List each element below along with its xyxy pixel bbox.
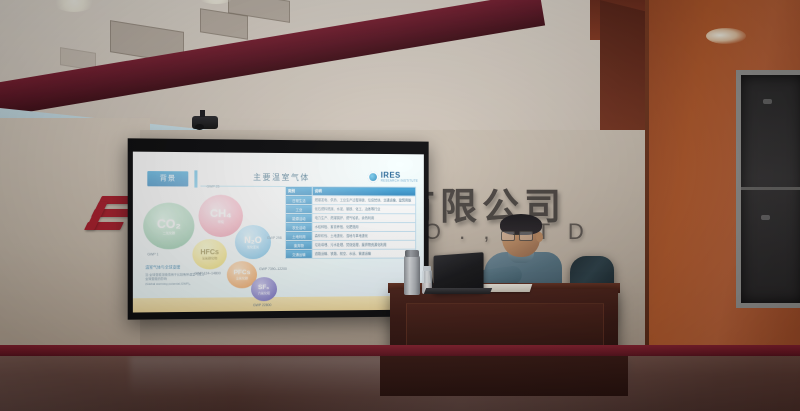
bubble-n2o-formula: N₂O	[244, 235, 262, 245]
table-cell-key: 土地利用	[285, 231, 312, 240]
eyeglasses-icon	[501, 231, 531, 239]
bubble-co2-sub: 二氧化碳	[157, 231, 181, 235]
ceiling-light	[52, 0, 96, 12]
bubble-ch4: CH₄ 甲烷	[198, 195, 242, 237]
table-cell-key: 交通运输	[285, 249, 312, 258]
table-cell-value: 水稻种植、畜禽养殖、化肥施用	[312, 223, 415, 232]
bubble-hfcs-formula: HFCs	[200, 249, 219, 256]
table-cell-value: 垃圾填埋、污水处理、焚烧处理、废弃物资源化利用	[312, 240, 415, 249]
bubble-hfcs-sub: 氢氟碳化物	[200, 256, 219, 260]
table-header-category: 类别	[285, 187, 312, 196]
table-cell-key: 能源活动	[285, 214, 312, 223]
ceiling-projector-icon	[192, 116, 218, 129]
slide-title: 主要温室气体	[253, 172, 310, 183]
slide-logo-subtitle: RESEARCH INSTITUTE	[381, 180, 418, 183]
table-cell-key: 日常生活	[285, 196, 312, 205]
bubble-ch4-sub: 甲烷	[210, 220, 231, 224]
window-glint	[761, 215, 770, 220]
slide-footnote-heading: 温室气体与全球变暖	[145, 265, 239, 271]
slide-tag-accent	[194, 170, 197, 187]
table-row: 能源活动 电力生产、燃煤锅炉、燃气轮机、余热利用	[285, 214, 415, 223]
table-header-description: 说明	[312, 187, 415, 196]
bubble-co2-gwp: GWP 1	[147, 252, 158, 256]
wall-corner-seam	[645, 0, 649, 352]
table-cell-value: 道路运输、铁路、航空、水运、管道运输	[312, 249, 415, 258]
laptop-keyboard-base	[424, 288, 492, 294]
bubble-n2o-sub: 氧化亚氮	[244, 245, 262, 249]
wall-spot-light	[706, 28, 746, 44]
table-row: 交通运输 道路运输、铁路、航空、水运、管道运输	[285, 249, 415, 258]
bubble-co2-formula: CO₂	[157, 217, 181, 231]
table-cell-value: 森林砍伐、土地退化、湿地与草地退化	[312, 231, 415, 240]
slide-footnote-line-3: (Global warming potential,GWP)。	[145, 281, 239, 286]
thermos-cap	[405, 250, 419, 257]
table-row: 日常生活 燃煤发电、供热、工业生产过程排放、垃圾焚烧、交通运输、建筑用能	[285, 196, 415, 205]
slide-logo-circle-icon	[368, 172, 379, 183]
conference-room-photo: 有限公司 CO . , L T D 背景 主要温室气体 IRES RESEARC…	[0, 0, 800, 411]
bubble-pfcs-gwp: GWP 7390–12200	[259, 267, 287, 271]
podium-shadow-base	[380, 356, 628, 396]
bubble-ch4-formula: CH₄	[210, 208, 231, 220]
presenter-ear	[536, 232, 543, 242]
table-cell-value: 电力生产、燃煤锅炉、燃气轮机、余热利用	[312, 214, 415, 223]
bubble-sf6-gwp: GWP 22800	[253, 303, 271, 307]
bubble-co2: CO₂ 二氧化碳	[143, 203, 194, 250]
bubble-ch4-gwp: GWP 25	[207, 185, 220, 189]
bubble-sf6-sub: 六氟化硫	[258, 291, 270, 295]
slide-table: 类别 说明 日常生活 燃煤发电、供热、工业生产过程排放、垃圾焚烧、交通运输、建筑…	[285, 186, 416, 259]
water-bottle-cap	[423, 266, 431, 271]
slide-section-tag: 背景	[147, 171, 188, 186]
projected-slide: 背景 主要温室气体 IRES RESEARCH INSTITUTE CO₂ 二氧…	[133, 152, 424, 313]
slide-footnote: 温室气体与全球变暖 注:全球变暖潜能值用于比较各种温室气体对 全球变暖的影响 (…	[145, 265, 239, 286]
table-row: 废弃物 垃圾填埋、污水处理、焚烧处理、废弃物资源化利用	[285, 240, 415, 249]
slide-logo: IRES RESEARCH INSTITUTE	[368, 172, 418, 183]
table-row: 农业活动 水稻种植、畜禽养殖、化肥施用	[285, 223, 415, 232]
slide-footer-band	[133, 296, 424, 313]
table-row: 工业 化石燃料燃烧、水泥、钢铁、化工、冶炼等行业	[285, 205, 415, 214]
table-cell-key: 废弃物	[285, 240, 312, 249]
laptop-screen	[434, 252, 484, 293]
window-glint	[763, 99, 772, 104]
table-row: 土地利用 森林砍伐、土地退化、湿地与草地退化	[285, 231, 415, 240]
table-cell-value: 燃煤发电、供热、工业生产过程排放、垃圾焚烧、交通运输、建筑用能	[312, 196, 415, 205]
window-mullion	[741, 187, 800, 190]
dark-window-panel	[736, 70, 800, 308]
bubble-sf6: SF₆ 六氟化硫	[251, 277, 277, 301]
bubble-n2o-gwp: GWP 298	[267, 236, 282, 240]
thermos-flask	[404, 255, 420, 295]
table-cell-key: 工业	[285, 205, 312, 214]
table-cell-value: 化石燃料燃烧、水泥、钢铁、化工、冶炼等行业	[312, 205, 415, 214]
bubble-n2o: N₂O 氧化亚氮	[235, 225, 271, 259]
projector-lens	[195, 124, 204, 130]
table-cell-key: 农业活动	[285, 223, 312, 232]
projection-screen-frame: 背景 主要温室气体 IRES RESEARCH INSTITUTE CO₂ 二氧…	[128, 138, 429, 319]
